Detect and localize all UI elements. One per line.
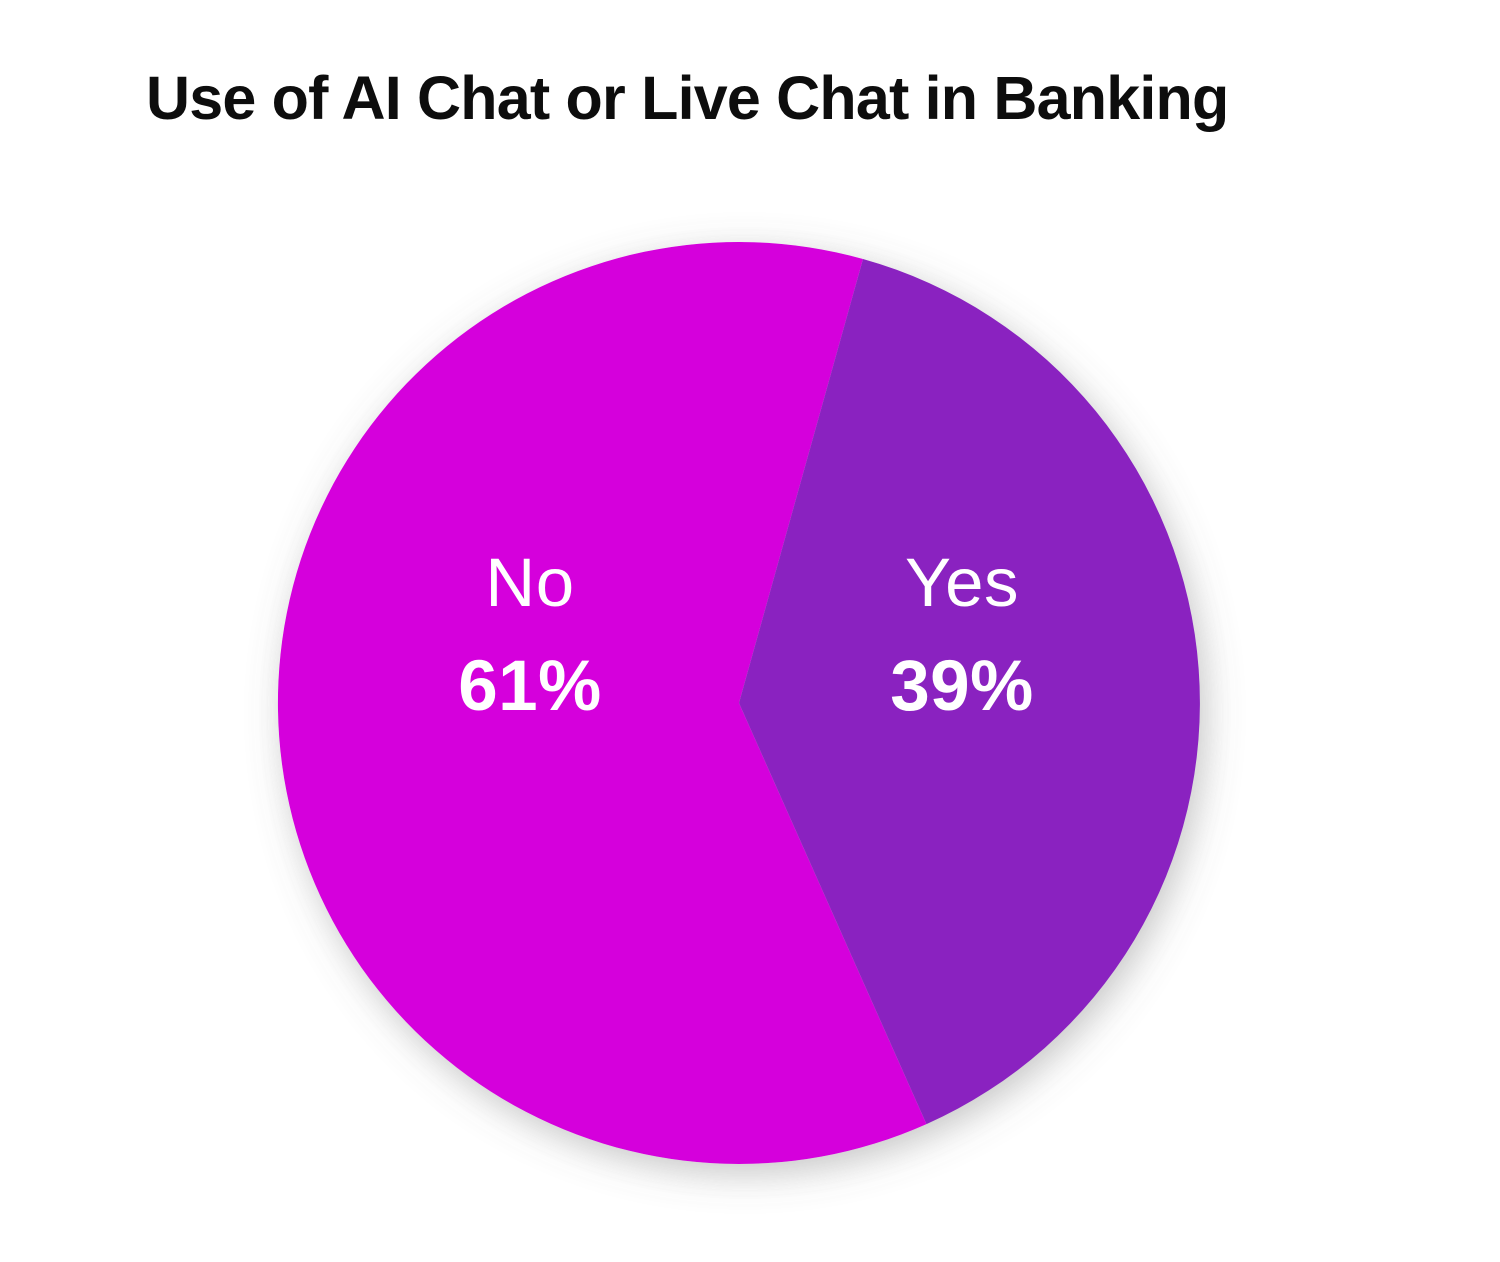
pie-label-no-name: No (380, 548, 680, 617)
pie-label-no-value: 61% (380, 651, 680, 722)
pie-label-yes-value: 39% (812, 651, 1112, 722)
pie-chart-graphic: No 61% Yes 39% (0, 0, 1500, 1262)
pie-label-yes-name: Yes (812, 548, 1112, 617)
pie-label-no: No 61% (380, 548, 680, 722)
pie-label-yes: Yes 39% (812, 548, 1112, 722)
pie-svg (0, 0, 1500, 1262)
pie-chart-figure: Use of AI Chat or Live Chat in Banking N… (0, 0, 1500, 1262)
